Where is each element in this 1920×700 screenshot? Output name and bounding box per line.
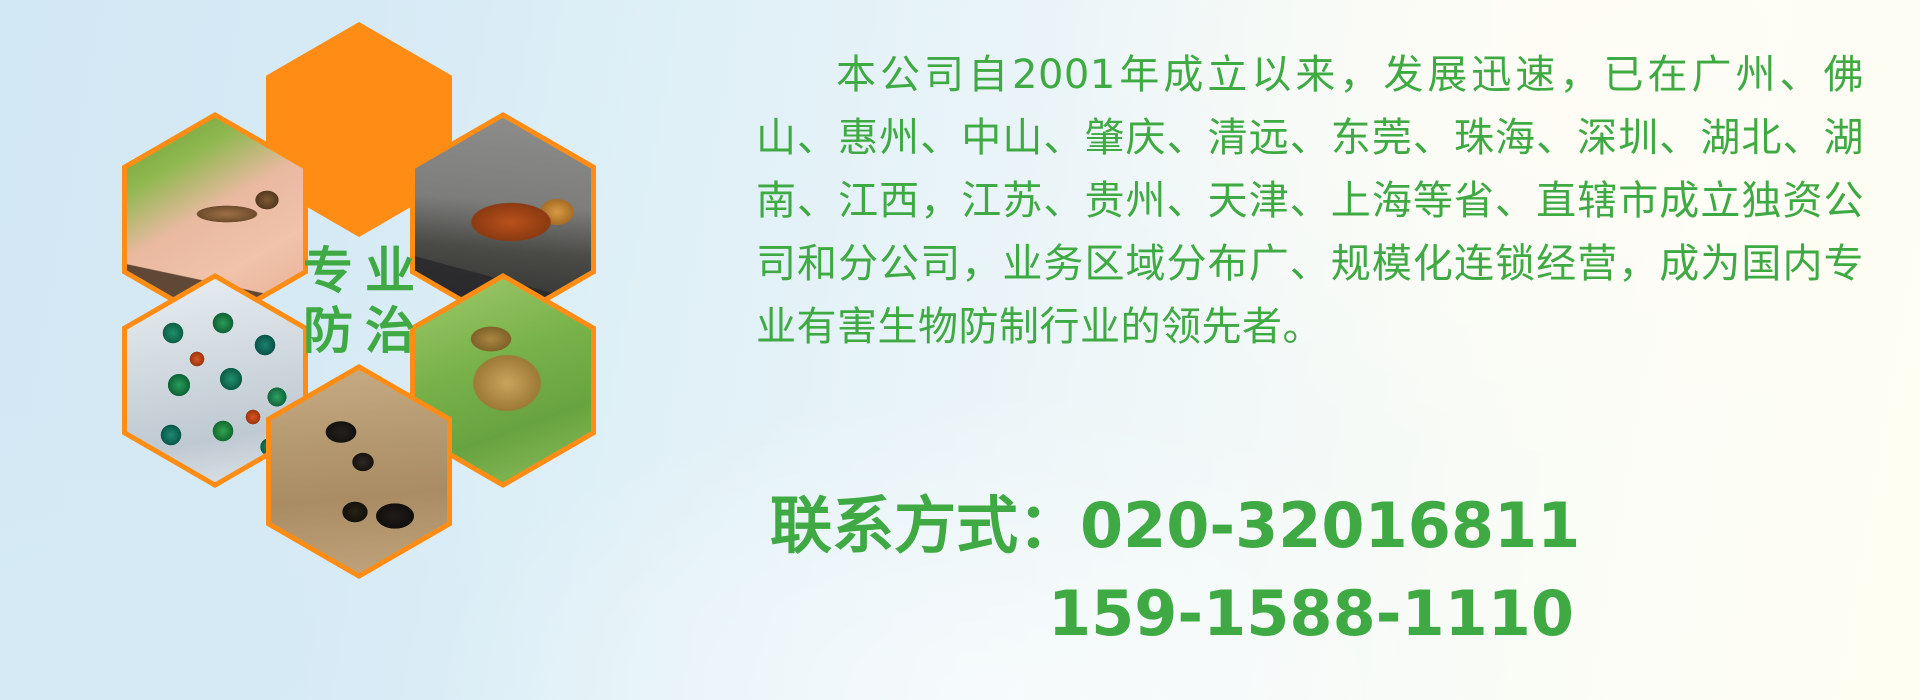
company-intro-paragraph: 本公司自2001年成立以来，发展迅速，已在广州、佛山、惠州、中山、肇庆、清远、东… — [756, 44, 1864, 359]
honeycomb-collage: 专业 防治 — [96, 8, 676, 688]
company-intro-block: 本公司自2001年成立以来，发展迅速，已在广州、佛山、惠州、中山、肇庆、清远、东… — [756, 44, 1864, 359]
center-label-line-2: 防治 — [291, 306, 427, 356]
honeycomb-center-label: 专业 防治 — [266, 193, 452, 408]
contact-line-secondary[interactable]: 159-1588-1110 — [770, 570, 1870, 658]
center-label-line-1: 专业 — [291, 246, 427, 296]
contact-line-primary[interactable]: 联系方式：020-32016811 — [770, 482, 1870, 570]
contact-block: 联系方式：020-32016811 159-1588-1110 — [770, 482, 1870, 658]
pest-control-banner: 专业 防治 本公司自2001年成立以来，发展迅速，已在广州、佛山、惠州、中山、肇… — [0, 0, 1920, 700]
